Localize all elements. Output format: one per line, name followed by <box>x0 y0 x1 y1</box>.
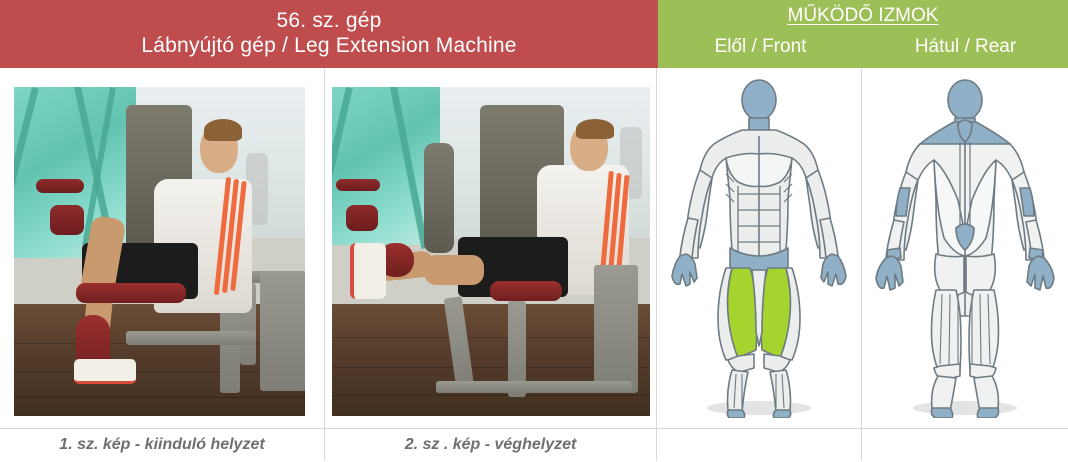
exercise-photo-start <box>14 87 305 416</box>
photo2-machine-roller-thigh <box>490 281 562 301</box>
left-hamstring <box>932 290 962 374</box>
muscles-title: MŰKÖDŐ IZMOK <box>658 4 1068 28</box>
photo2-machine-base <box>436 381 632 393</box>
rear-body-svg <box>870 78 1060 418</box>
exercise-photo-end <box>332 87 650 416</box>
left-hand <box>672 254 697 286</box>
photo2-weight-stack <box>424 143 454 253</box>
front-body-svg <box>664 78 854 418</box>
photo2-bench-pad-left <box>336 179 380 191</box>
machine-title-banner: 56. sz. gép Lábnyújtó gép / Leg Extensio… <box>0 0 658 68</box>
photo-cell-end <box>325 68 657 428</box>
photo2-bench-pad-left-2 <box>346 205 378 231</box>
caption-rear <box>862 429 1068 461</box>
photo-athlete-hair <box>204 119 242 141</box>
muscle-figure-cell-front <box>657 68 862 428</box>
slide-root: 56. sz. gép Lábnyújtó gép / Leg Extensio… <box>0 0 1068 461</box>
machine-name: Lábnyújtó gép / Leg Extension Machine <box>141 33 516 59</box>
caption-row: 1. sz. kép - kiinduló helyzet 2. sz . ké… <box>0 428 1068 462</box>
right-foot <box>773 410 790 418</box>
rear-head-shape <box>948 80 982 120</box>
rear-body-group <box>876 80 1054 418</box>
rear-right-hand <box>1027 256 1054 290</box>
front-view-label: Elől / Front <box>658 30 863 64</box>
caption-photo2: 2. sz . kép - véghelyzet <box>325 429 657 461</box>
muscle-figure-cell-rear <box>862 68 1068 428</box>
figure-shadow <box>707 401 811 415</box>
rear-view-label: Hátul / Rear <box>863 30 1068 64</box>
photo-machine-seat-post <box>260 271 305 391</box>
photo-athlete-shoe <box>74 359 136 384</box>
front-body-figure <box>657 68 861 428</box>
rear-left-foot <box>932 408 953 418</box>
photo2-athlete-shoe <box>350 243 386 299</box>
photo2-machine-seat-post <box>594 265 638 393</box>
muscles-subheader-row: Elől / Front Hátul / Rear <box>658 30 1068 64</box>
right-hand <box>821 254 846 286</box>
photo-machine-base <box>126 331 256 345</box>
left-foot <box>727 410 744 418</box>
rear-right-foot <box>977 408 998 418</box>
photo2-athlete-hair <box>576 119 614 139</box>
content-grid <box>0 68 1068 428</box>
right-hamstring <box>969 290 999 374</box>
photo-bench-pad-left-2 <box>50 205 84 235</box>
photo-floor-line-3 <box>14 397 305 398</box>
machine-number: 56. sz. gép <box>277 8 382 33</box>
photo-cell-start <box>0 68 325 428</box>
header-row: 56. sz. gép Lábnyújtó gép / Leg Extensio… <box>0 0 1068 68</box>
head-shape <box>742 80 776 120</box>
caption-front <box>657 429 862 461</box>
front-body-group <box>672 80 846 418</box>
photo-machine-roller-upper <box>76 283 186 303</box>
photo2-floor-line-3 <box>332 395 650 396</box>
rear-left-hand <box>876 256 903 290</box>
caption-photo1: 1. sz. kép - kiinduló helyzet <box>0 429 325 461</box>
photo-bench-pad-left <box>36 179 84 193</box>
muscles-banner: MŰKÖDŐ IZMOK Elől / Front Hátul / Rear <box>658 0 1068 68</box>
rear-figure-shadow <box>913 401 1017 415</box>
rear-body-figure <box>862 68 1068 428</box>
